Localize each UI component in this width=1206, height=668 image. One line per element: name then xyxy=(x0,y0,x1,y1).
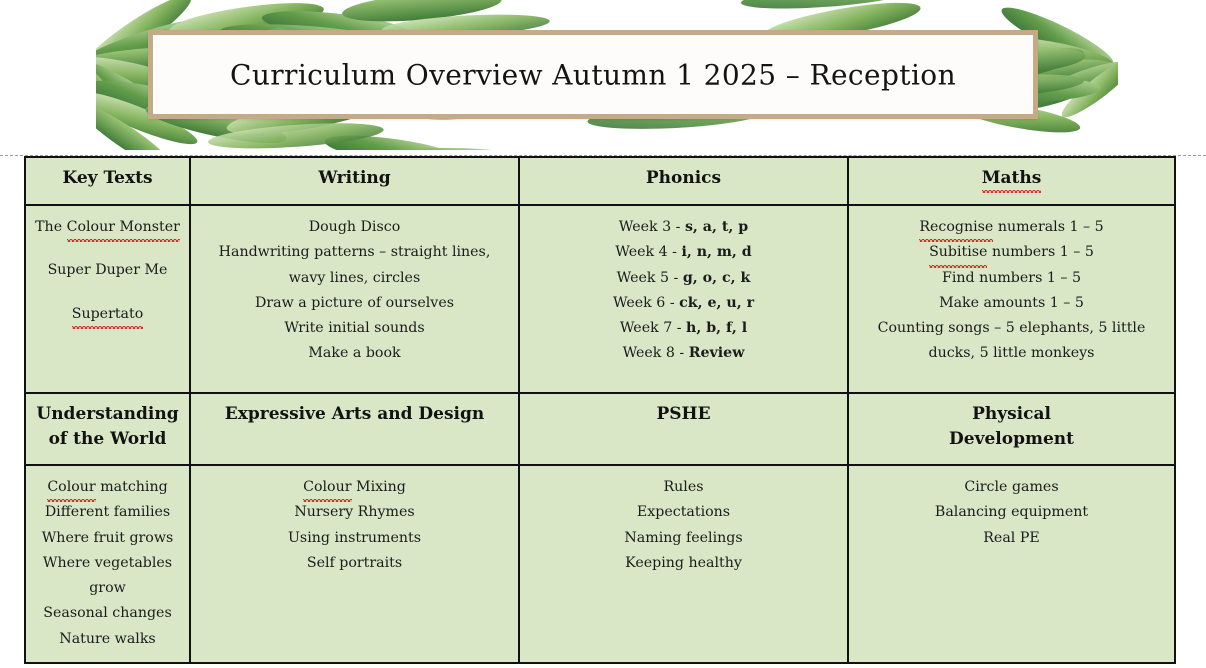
list-item: Naming feelings xyxy=(528,526,839,551)
list-item: Week 4 - i, n, m, d xyxy=(528,240,839,265)
list-item: Dough Disco xyxy=(199,215,510,240)
list-item: Nature walks xyxy=(34,627,181,652)
title-banner: Curriculum Overview Autumn 1 2025 – Rece… xyxy=(0,0,1206,152)
list-item: Week 5 - g, o, c, k xyxy=(528,266,839,291)
table-row-headers-1: Key Texts Writing Phonics Maths xyxy=(25,157,1175,205)
header-cell-understanding-world: Understanding of the World xyxy=(25,393,190,465)
list-item: Make a book xyxy=(199,341,510,366)
table-row-content-1: The Colour Monster Super Duper Me Supert… xyxy=(25,205,1175,393)
list-item: Real PE xyxy=(857,526,1166,551)
content-cell-expressive-arts: Colour Mixing Nursery Rhymes Using instr… xyxy=(190,465,519,663)
list-item: The Colour Monster xyxy=(34,215,181,240)
column-title-key-texts: Key Texts xyxy=(26,158,189,191)
list-item: Draw a picture of ourselves xyxy=(199,291,510,316)
list-item: Self portraits xyxy=(199,551,510,576)
title-panel: Curriculum Overview Autumn 1 2025 – Rece… xyxy=(148,30,1038,119)
content-cell-understanding-world: Colour matching Different families Where… xyxy=(25,465,190,663)
list-item: Colour matching xyxy=(34,475,181,500)
header-cell-pshe: PSHE xyxy=(519,393,848,465)
header-cell-key-texts: Key Texts xyxy=(25,157,190,205)
header-cell-phonics: Phonics xyxy=(519,157,848,205)
table-row-content-2: Colour matching Different families Where… xyxy=(25,465,1175,663)
list-item: Week 3 - s, a, t, p xyxy=(528,215,839,240)
list-item: Different families xyxy=(34,500,181,525)
writing-list: Dough Disco Handwriting patterns – strai… xyxy=(191,206,518,375)
content-cell-maths: Recognise numerals 1 – 5 Subitise number… xyxy=(848,205,1175,393)
page-title: Curriculum Overview Autumn 1 2025 – Rece… xyxy=(153,58,1033,91)
content-cell-phonics: Week 3 - s, a, t, p Week 4 - i, n, m, d … xyxy=(519,205,848,393)
list-item: Week 6 - ck, e, u, r xyxy=(528,291,839,316)
list-item: Counting songs – 5 elephants, 5 little d… xyxy=(857,316,1166,367)
list-item: Week 8 - Review xyxy=(528,341,839,366)
list-item: Where fruit grows xyxy=(34,526,181,551)
content-cell-physical-development: Circle games Balancing equipment Real PE xyxy=(848,465,1175,663)
key-texts-list: The Colour Monster Super Duper Me Supert… xyxy=(26,206,189,335)
column-title-expressive-arts: Expressive Arts and Design xyxy=(191,394,518,427)
column-title-phonics: Phonics xyxy=(520,158,847,191)
header-cell-physical-development: Physical Development xyxy=(848,393,1175,465)
column-title-maths: Maths xyxy=(849,158,1174,191)
list-item: Make amounts 1 – 5 xyxy=(857,291,1166,316)
content-cell-key-texts: The Colour Monster Super Duper Me Supert… xyxy=(25,205,190,393)
column-title-writing: Writing xyxy=(191,158,518,191)
list-item: Rules xyxy=(528,475,839,500)
list-item: Subitise numbers 1 – 5 xyxy=(857,240,1166,265)
column-title-pshe: PSHE xyxy=(520,394,847,427)
content-cell-pshe: Rules Expectations Naming feelings Keepi… xyxy=(519,465,848,663)
understanding-world-list: Colour matching Different families Where… xyxy=(26,466,189,660)
list-item: Colour Mixing xyxy=(199,475,510,500)
curriculum-overview-table: Key Texts Writing Phonics Maths The Colo… xyxy=(24,156,1176,664)
column-title-physical-development: Physical Development xyxy=(849,394,1174,451)
list-item: Expectations xyxy=(528,500,839,525)
list-item: Handwriting patterns – straight lines, w… xyxy=(199,240,510,291)
list-item: Recognise numerals 1 – 5 xyxy=(857,215,1166,240)
list-item: Seasonal changes xyxy=(34,601,181,626)
header-cell-writing: Writing xyxy=(190,157,519,205)
list-item: Week 7 - h, b, f, l xyxy=(528,316,839,341)
list-item: Write initial sounds xyxy=(199,316,510,341)
list-item: Nursery Rhymes xyxy=(199,500,510,525)
list-item: Keeping healthy xyxy=(528,551,839,576)
list-item: Circle games xyxy=(857,475,1166,500)
column-title-understanding-world: Understanding of the World xyxy=(26,394,189,451)
physical-development-list: Circle games Balancing equipment Real PE xyxy=(849,466,1174,559)
header-cell-maths: Maths xyxy=(848,157,1175,205)
phonics-list: Week 3 - s, a, t, p Week 4 - i, n, m, d … xyxy=(520,206,847,375)
maths-list: Recognise numerals 1 – 5 Subitise number… xyxy=(849,206,1174,375)
list-item: Super Duper Me xyxy=(34,258,181,283)
list-item: Supertato xyxy=(34,302,181,327)
table-row-headers-2: Understanding of the World Expressive Ar… xyxy=(25,393,1175,465)
list-item: Where vegetables grow xyxy=(34,551,181,602)
list-item: Find numbers 1 – 5 xyxy=(857,266,1166,291)
header-cell-expressive-arts: Expressive Arts and Design xyxy=(190,393,519,465)
list-item: Using instruments xyxy=(199,526,510,551)
content-cell-writing: Dough Disco Handwriting patterns – strai… xyxy=(190,205,519,393)
list-item: Balancing equipment xyxy=(857,500,1166,525)
pshe-list: Rules Expectations Naming feelings Keepi… xyxy=(520,466,847,584)
expressive-arts-list: Colour Mixing Nursery Rhymes Using instr… xyxy=(191,466,518,584)
